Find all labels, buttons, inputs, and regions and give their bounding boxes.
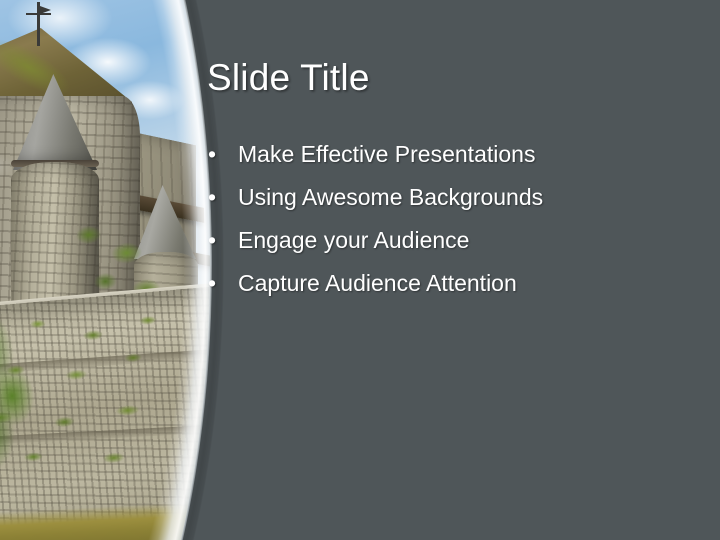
slide-title[interactable]: Slide Title xyxy=(207,57,370,99)
bullet-item-1[interactable]: • Make Effective Presentations xyxy=(208,141,678,184)
weathervane-bar xyxy=(26,13,51,15)
slide-bullet-list[interactable]: • Make Effective Presentations • Using A… xyxy=(208,141,678,313)
bullet-item-2[interactable]: • Using Awesome Backgrounds xyxy=(208,184,678,227)
bullet-item-4[interactable]: • Capture Audience Attention xyxy=(208,270,678,313)
bullet-text: Capture Audience Attention xyxy=(238,270,517,297)
bullet-item-3[interactable]: • Engage your Audience xyxy=(208,227,678,270)
bullet-marker-icon: • xyxy=(208,186,238,209)
bullet-marker-icon: • xyxy=(208,229,238,252)
bullet-text: Using Awesome Backgrounds xyxy=(238,184,543,211)
bullet-text: Make Effective Presentations xyxy=(238,141,535,168)
bullet-marker-icon: • xyxy=(208,272,238,295)
weathervane-pole xyxy=(37,2,40,46)
presentation-slide: Slide Title • Make Effective Presentatio… xyxy=(0,0,720,540)
bullet-text: Engage your Audience xyxy=(238,227,469,254)
castle-photo xyxy=(0,0,222,540)
bullet-marker-icon: • xyxy=(208,143,238,166)
